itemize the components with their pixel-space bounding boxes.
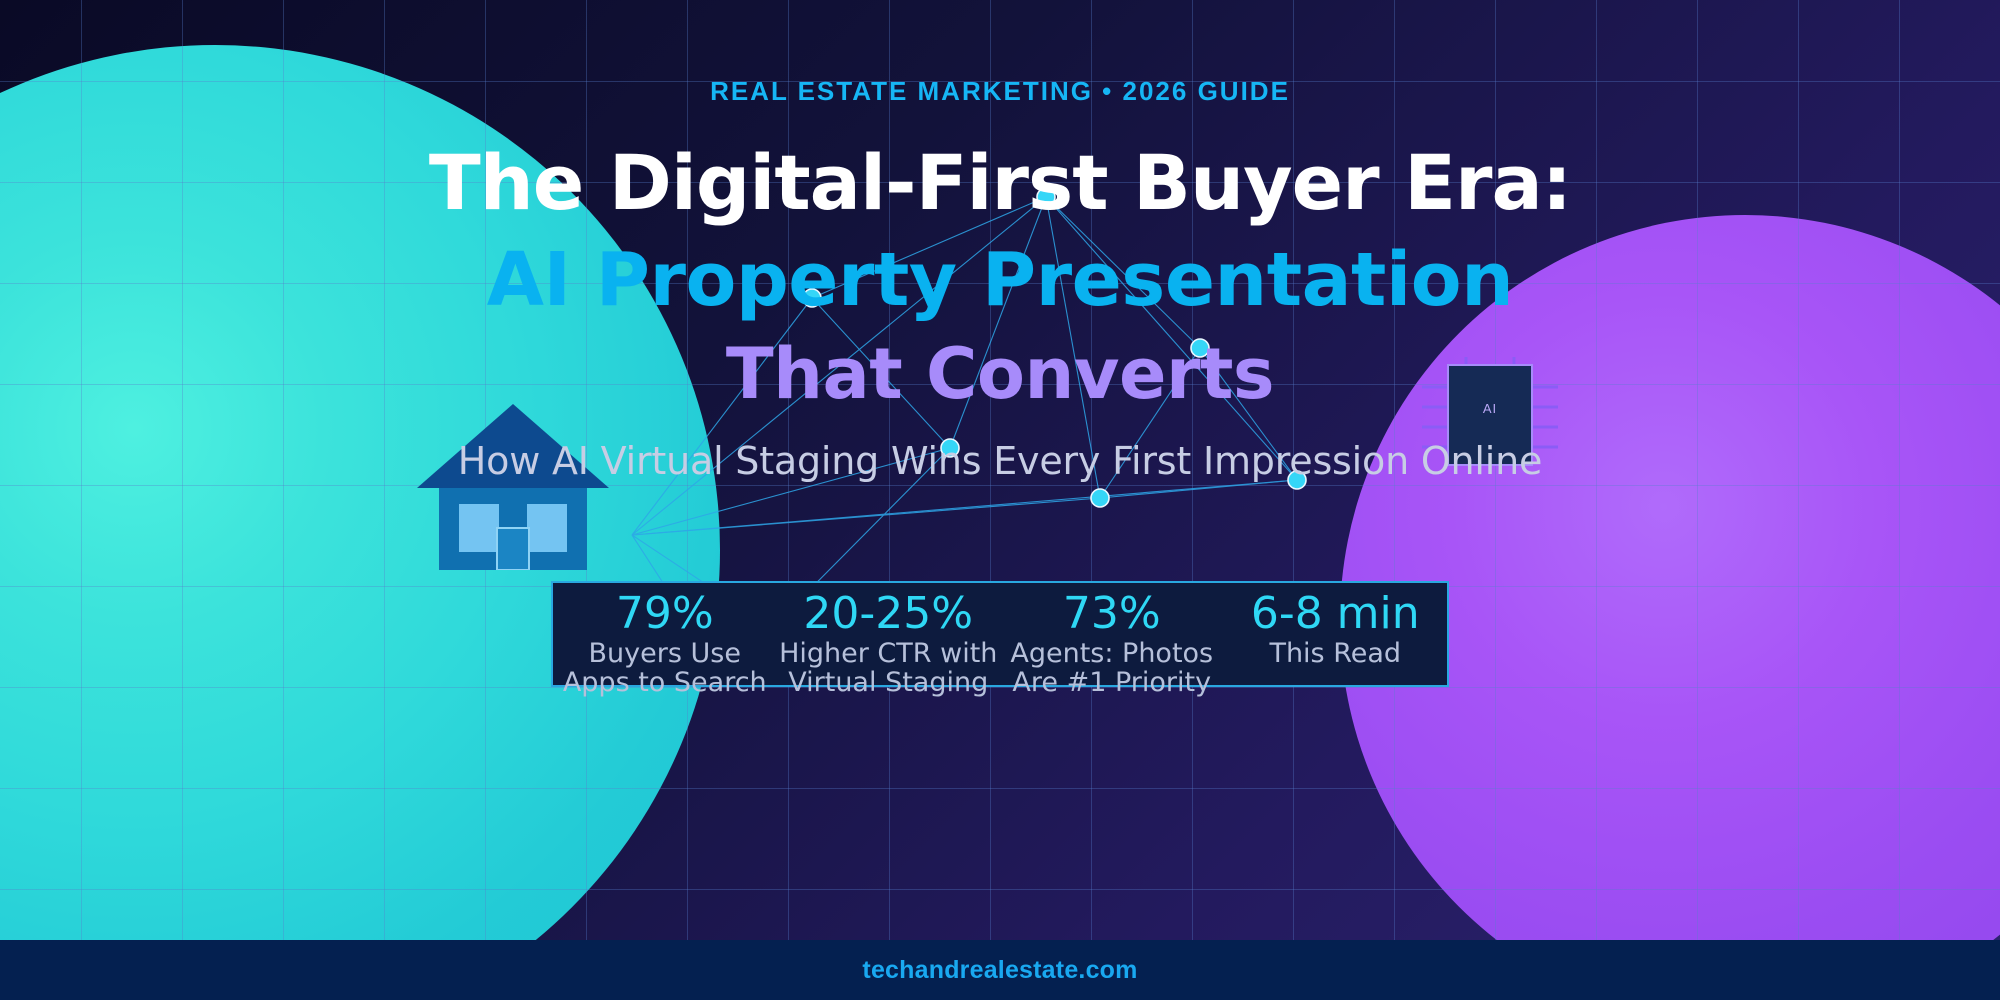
stat-value: 79% [553, 591, 777, 637]
stat-item: 79% Buyers Use Apps to Search [553, 583, 777, 637]
stat-label-line-2: Virtual Staging [779, 668, 997, 697]
eyebrow-label: REAL ESTATE MARKETING • 2026 GUIDE [0, 76, 2000, 107]
hero-content: REAL ESTATE MARKETING • 2026 GUIDE The D… [0, 0, 2000, 483]
stat-label: Buyers Use Apps to Search [563, 639, 767, 697]
stat-label-line-1: Higher CTR with [779, 639, 997, 668]
footer-bar: techandrealestate.com [0, 940, 2000, 1000]
stat-label: Higher CTR with Virtual Staging [779, 639, 997, 697]
stat-label-line-2: Are #1 Priority [1010, 668, 1213, 697]
stat-label: Agents: Photos Are #1 Priority [1010, 639, 1213, 697]
stat-item: 6-8 min This Read [1224, 583, 1448, 637]
stat-value: 73% [1000, 591, 1224, 637]
subtitle: How AI Virtual Staging Wins Every First … [0, 439, 2000, 483]
poster-canvas: AI REAL ESTATE MARKETING • 2026 GUIDE Th… [0, 0, 2000, 1000]
headline-line-1: The Digital-First Buyer Era: [0, 145, 2000, 221]
stat-label-line-1: Buyers Use [563, 639, 767, 668]
stat-value: 20-25% [777, 591, 1001, 637]
stat-label: This Read [1269, 639, 1401, 668]
stat-item: 20-25% Higher CTR with Virtual Staging [777, 583, 1001, 637]
stat-label-line-2: Apps to Search [563, 668, 767, 697]
stat-label-line-1: Agents: Photos [1010, 639, 1213, 668]
headline-line-2: AI Property Presentation [0, 243, 2000, 317]
headline-line-3: That Converts [0, 339, 2000, 409]
footer-website-link[interactable]: techandrealestate.com [862, 956, 1137, 985]
stat-value: 6-8 min [1224, 591, 1448, 637]
stats-bar: 79% Buyers Use Apps to Search 20-25% Hig… [551, 581, 1449, 687]
stat-item: 73% Agents: Photos Are #1 Priority [1000, 583, 1224, 637]
stat-label-line-1: This Read [1269, 639, 1401, 668]
